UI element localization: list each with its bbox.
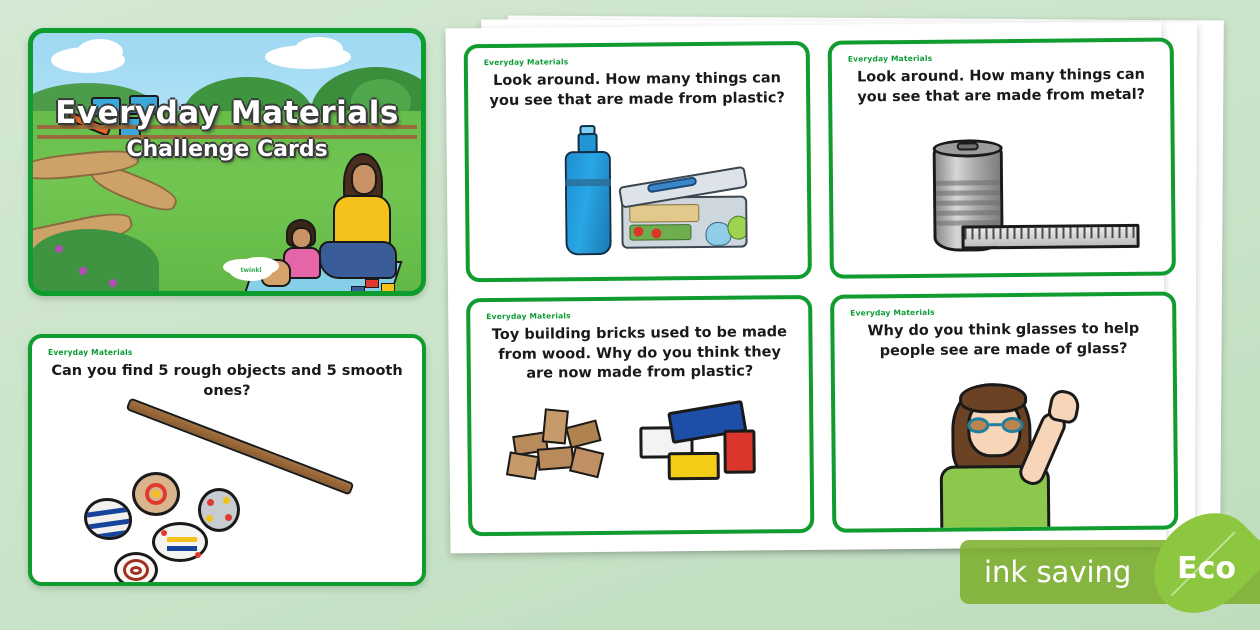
flower-icon [55, 245, 63, 253]
adult-face [351, 163, 377, 195]
card-question: Why do you think glasses to help people … [848, 320, 1158, 362]
toy-brick-icon [365, 279, 379, 288]
stone-chevron-icon [152, 522, 208, 562]
water-bottle-cap [579, 125, 595, 135]
toy-brick-icon [351, 286, 365, 295]
stone-target-icon [132, 472, 180, 516]
card-label: Everyday Materials [848, 54, 933, 64]
wooden-block-icon [565, 419, 602, 448]
cover-title: Everyday Materials [33, 95, 421, 131]
card-question: Toy building bricks used to be made from… [484, 323, 795, 385]
toy-brick-icon [381, 283, 395, 292]
ink-saving-label: ink saving [984, 555, 1131, 589]
card-label: Everyday Materials [850, 308, 935, 318]
card-label: Everyday Materials [486, 311, 571, 321]
stone-dotted-grey-icon [198, 488, 240, 532]
cover-card[interactable]: twinkl Everyday Materials Challenge Card… [28, 28, 426, 296]
adult-jeans [319, 241, 397, 279]
card-rough-smooth[interactable]: Everyday Materials Can you find 5 rough … [28, 334, 426, 586]
card-glasses[interactable]: Everyday Materials Why do you think glas… [830, 291, 1178, 532]
stone-striped-icon [84, 498, 132, 540]
water-bottle-neck [578, 133, 598, 153]
water-bottle-icon [565, 151, 612, 255]
card-art-building-bricks [471, 391, 810, 526]
child-face [291, 227, 312, 249]
card-question: Can you find 5 rough objects and 5 smoot… [46, 362, 408, 401]
twinkl-wordmark: twinkl [241, 267, 262, 274]
eco-label: Eco [1177, 551, 1236, 586]
card-plastic[interactable]: Everyday Materials Look around. How many… [464, 41, 812, 282]
flower-icon [79, 267, 87, 275]
card-metal[interactable]: Everyday Materials Look around. How many… [828, 37, 1176, 278]
stone-spiral-icon [114, 552, 158, 586]
card-art-plastic [468, 117, 807, 272]
card-label: Everyday Materials [484, 57, 569, 67]
tin-can-ring-pull [957, 142, 979, 150]
metal-ruler-icon [961, 224, 1139, 250]
twinkl-cloud-logo: twinkl [229, 259, 273, 281]
card-label: Everyday Materials [48, 348, 133, 357]
card-art-glasses [835, 371, 1174, 522]
wooden-block-icon [506, 451, 540, 480]
girl-fringe [959, 383, 1027, 414]
wooden-block-icon [569, 446, 604, 478]
cloud-icon [295, 37, 343, 61]
sheet-front[interactable]: Everyday Materials Look around. How many… [445, 22, 1166, 554]
wooden-block-icon [537, 446, 575, 471]
cover-subtitle: Challenge Cards [33, 137, 421, 162]
cloud-icon [77, 39, 123, 65]
card-art-rough-smooth [32, 410, 422, 576]
glasses-icon [967, 417, 1023, 434]
card-building-bricks[interactable]: Everyday Materials Toy building bricks u… [466, 295, 814, 536]
plastic-brick-red-icon [723, 429, 755, 473]
plastic-brick-yellow-icon [668, 452, 720, 480]
card-question: Look around. How many things can you see… [846, 66, 1156, 108]
water-bottle-band [565, 179, 611, 186]
girl-hand-icon [1046, 388, 1082, 425]
card-art-metal [832, 113, 1171, 268]
card-sheet-stack[interactable]: wls ses? Everyday Materials Look around.… [446, 18, 1236, 563]
flower-icon [109, 279, 117, 287]
card-question: Look around. How many things can you see… [482, 69, 792, 111]
